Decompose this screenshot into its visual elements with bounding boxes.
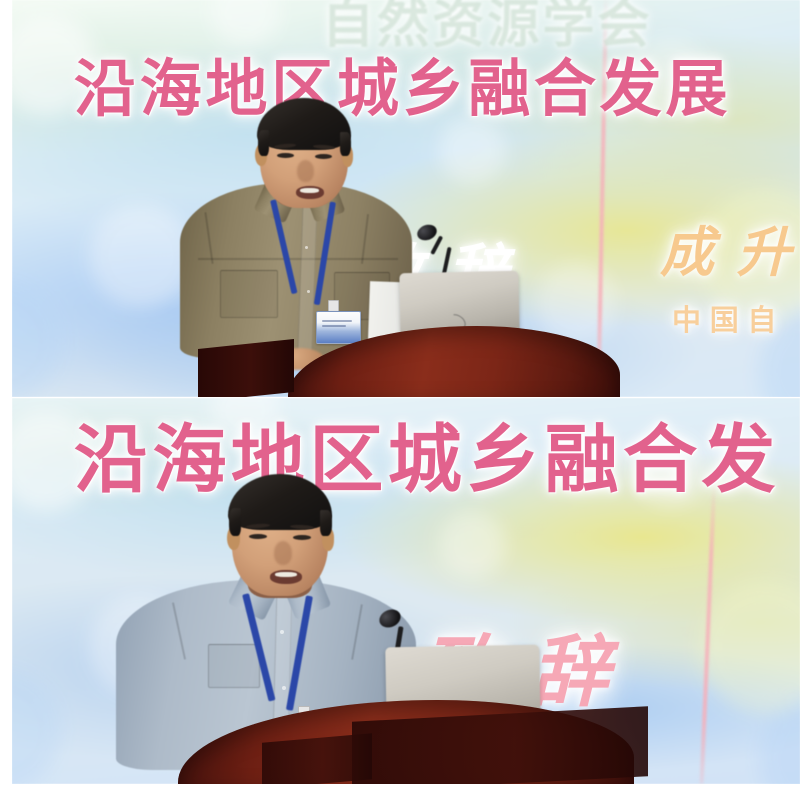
podium-side-top — [198, 339, 294, 397]
speaker-top-hair — [257, 98, 351, 150]
speaker-top-nose — [297, 160, 314, 182]
speaker-top-sideburn-left — [258, 130, 269, 156]
photo-collage: 自然资源学会 沿海地区城乡融合发展 致辞 成升 中国自 — [0, 0, 800, 800]
photo-panel-top: 自然资源学会 沿海地区城乡融合发展 致辞 成升 中国自 — [12, 0, 800, 397]
speaker-top-sideburn-right — [340, 132, 351, 156]
speaker-top-button-2 — [307, 290, 310, 293]
speaker-bottom-eye-right — [293, 535, 311, 540]
speaker-top-yoke-line — [198, 258, 398, 260]
speaker-bottom-nose — [274, 541, 292, 565]
photo-panel-bottom: 沿海地区城乡融合发 致辞 — [12, 398, 800, 784]
speaker-bottom-sideburn-right — [320, 510, 332, 536]
speaker-top-teeth — [300, 188, 319, 193]
speaker-top-eye-left — [277, 153, 294, 158]
speaker-bottom-sideburn-left — [229, 508, 241, 536]
podium-shadow-bottom — [262, 733, 372, 784]
speaker-bottom-button-1 — [280, 630, 284, 634]
speaker-bottom-teeth — [275, 572, 297, 577]
speaker-top-badge-line-1 — [322, 320, 352, 322]
speaker-bottom-button-2 — [282, 686, 286, 690]
speaker-top-pocket-left — [220, 270, 278, 318]
speaker-top-badge-line-2 — [322, 325, 346, 327]
speaker-bottom-pocket — [208, 644, 260, 688]
speaker-bottom-hair — [228, 474, 332, 530]
speaker-top-eye-right — [315, 154, 332, 159]
speaker-bottom-eye-left — [249, 534, 267, 539]
speaker-top-button-1 — [305, 246, 308, 249]
speaker-top-badge — [316, 311, 361, 344]
